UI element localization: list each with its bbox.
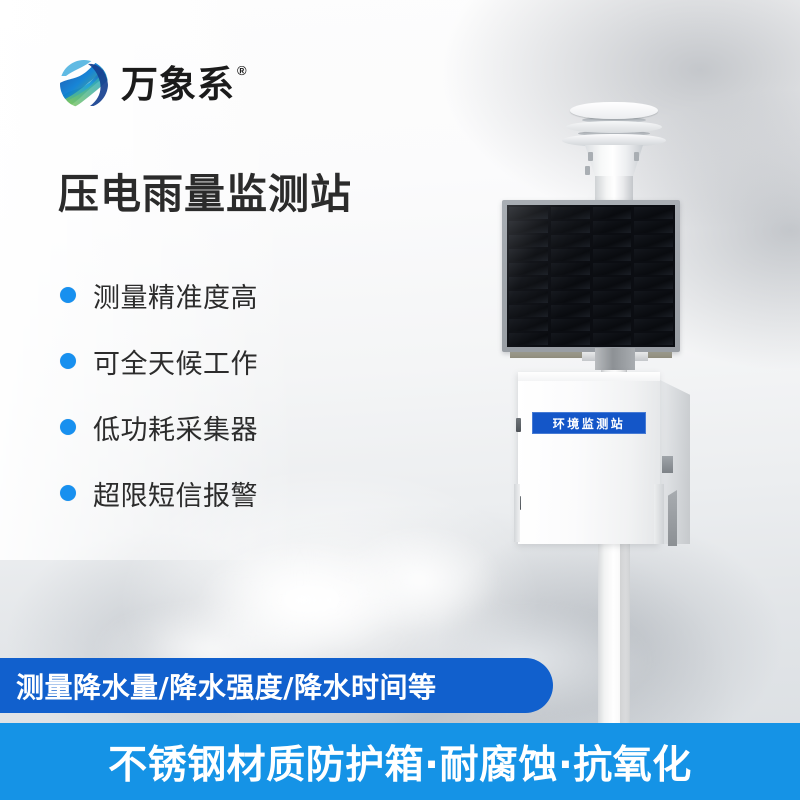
solar-cell-column [551,207,590,345]
sensor-screw [634,152,639,161]
brand-logo: 万象系 ® [58,58,247,110]
sensor-body [585,145,643,178]
feature-banner-text: 测量降水量/降水强度/降水时间等 [16,666,436,706]
sensor-top-cap [570,102,658,119]
feature-label: 超限短信报警 [93,474,258,513]
solar-cell-column [509,207,548,345]
sensor-ring-upper [566,121,662,133]
enclosure-latch [662,456,673,473]
globe-swirl-logo-icon [58,58,110,110]
bullet-dot-icon [60,353,76,369]
sensor-screw [588,152,593,161]
sensor-neck [595,176,633,200]
enclosure-left-lip [514,484,520,542]
list-item: 低功耗采集器 [60,394,390,460]
footer-text: 不锈钢材质防护箱·耐腐蚀·抗氧化 [108,734,692,790]
bullet-dot-icon [60,419,76,435]
rain-gauge-sensor-icon [558,90,670,198]
bullet-dot-icon [60,485,76,501]
feature-list: 测量精准度高 可全天候工作 低功耗采集器 超限短信报警 [60,262,390,526]
trademark-symbol: ® [237,64,247,77]
enclosure-right-lip [654,484,664,544]
feature-banner: 测量降水量/降水强度/降水时间等 [0,658,553,713]
product-image: 环境监测站 [470,90,800,730]
enclosure-side-shadow [668,490,677,546]
solar-panel-frame [502,200,680,352]
bullet-dot-icon [60,287,76,303]
solar-cell-column [634,207,673,345]
feature-label: 低功耗采集器 [93,408,258,447]
enclosure-top-bevel [518,372,660,381]
feature-label: 可全天候工作 [93,342,258,381]
plaque-label: 环境监测站 [553,415,626,432]
list-item: 可全天候工作 [60,328,390,394]
brand-name: 万象系 [121,66,235,103]
feature-label: 测量精准度高 [93,276,258,315]
list-item: 超限短信报警 [60,460,390,526]
sensor-screw [585,166,590,175]
equipment-enclosure-icon: 环境监测站 [518,372,703,544]
solar-panel-icon [502,200,680,352]
solar-cell-grid [507,205,675,347]
page-title: 压电雨量监测站 [58,172,352,218]
product-poster: 万象系 ® 压电雨量监测站 测量精准度高 可全天候工作 低功耗采集器 超限短信报… [0,0,800,800]
enclosure-front-panel: 环境监测站 [518,372,660,544]
panel-bracket [595,348,635,370]
status-badge: 环境监测站 [532,412,646,434]
enclosure-hinge [516,418,521,432]
solar-cell-column [593,207,632,345]
list-item: 测量精准度高 [60,262,390,328]
footer-bar: 不锈钢材质防护箱·耐腐蚀·抗氧化 [0,723,800,800]
